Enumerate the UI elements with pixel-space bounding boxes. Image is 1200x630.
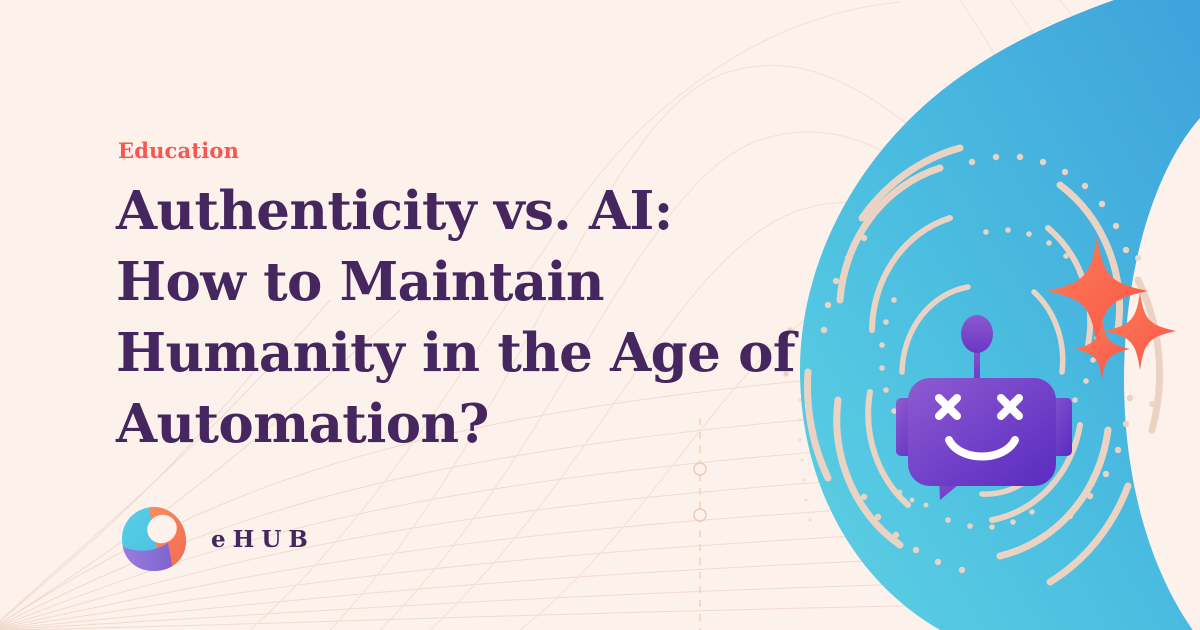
robot-illustration [780, 0, 1200, 630]
brand-name: eHUB [211, 526, 315, 553]
robot-head [908, 378, 1056, 486]
antenna-icon [961, 315, 993, 353]
category-label[interactable]: Education [118, 138, 239, 163]
brand-lockup[interactable]: eHUB [118, 503, 315, 575]
ehub-torus-logo-icon [118, 503, 190, 575]
node-dot [694, 509, 706, 521]
social-card-canvas: Education Authenticity vs. AI: How to Ma… [0, 0, 1200, 630]
node-dot [694, 463, 706, 475]
page-title: Authenticity vs. AI: How to Maintain Hum… [116, 176, 816, 460]
